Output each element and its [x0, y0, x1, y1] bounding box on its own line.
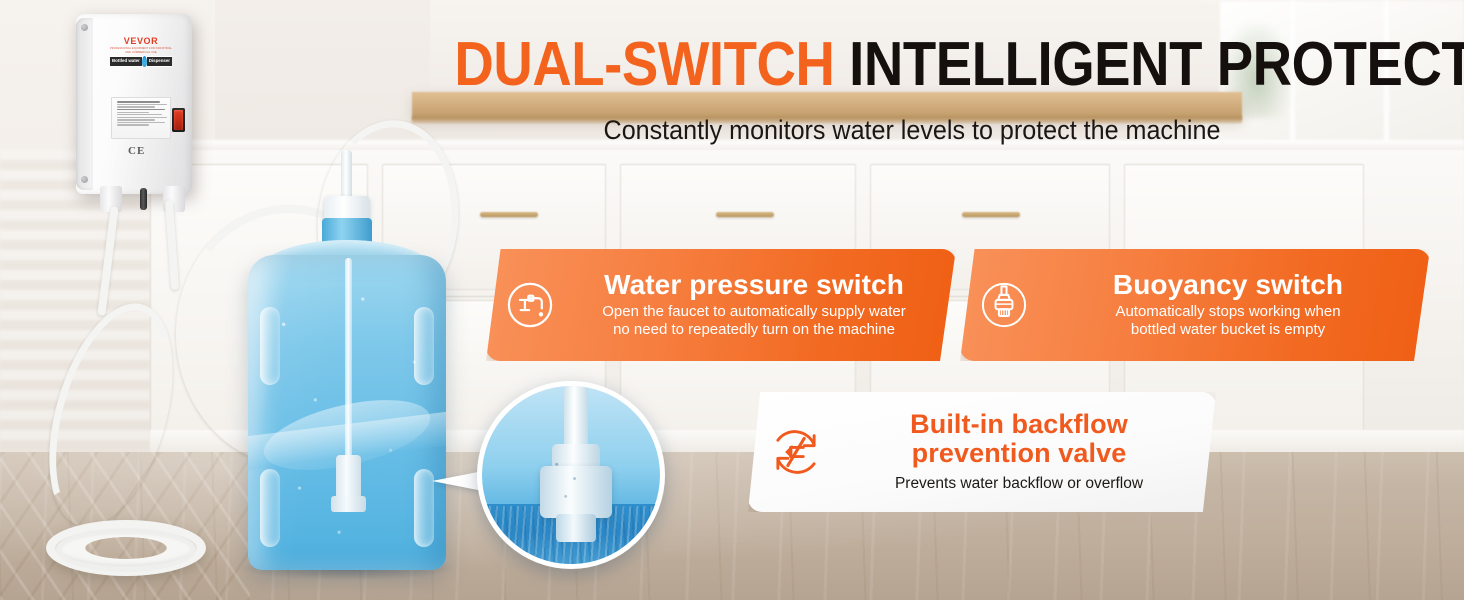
tube-coil-inner [56, 528, 196, 572]
badge-buoyancy-switch[interactable]: Buoyancy switch Automatically stops work… [960, 249, 1430, 361]
badge-title: Buoyancy switch [1042, 270, 1414, 300]
cabinet-handle [716, 212, 774, 217]
power-cord [140, 188, 147, 210]
badge-subtitle-line1: Open the faucet to automatically supply … [568, 303, 940, 322]
product-type-label: Bottled water Dispenser [110, 56, 172, 67]
label-dispenser: Dispenser [147, 57, 172, 65]
floor-sheen [0, 452, 1464, 600]
magnifier-droplets [482, 386, 660, 564]
no-backflow-icon [766, 422, 826, 482]
brand-tagline: PROFESSIONAL EQUIPMENT FOR INDUSTRIAL AN… [108, 47, 174, 55]
cabinet-handle [962, 212, 1020, 217]
banner-stage: VEVOR PROFESSIONAL EQUIPMENT FOR INDUSTR… [0, 0, 1464, 600]
magnifier-inset [477, 381, 665, 569]
intake-valve [336, 455, 361, 501]
label-bottled-water: Bottled water [110, 57, 142, 65]
badge-subtitle-line2: bottled water bucket is empty [1042, 321, 1414, 340]
float-switch-icon [976, 277, 1032, 333]
headline-orange: DUAL-SWITCH [454, 30, 834, 99]
pump-screw [81, 24, 88, 31]
bottle-grip [414, 307, 434, 385]
badge-text-group: Water pressure switch Open the faucet to… [568, 270, 940, 340]
bottle-stem [341, 150, 352, 202]
bottle-grip [260, 469, 280, 547]
bottle-grip [414, 469, 434, 547]
faucet-icon [502, 277, 558, 333]
headline-black: INTELLIGENT PROTECTION [849, 30, 1464, 99]
spec-sticker [111, 97, 171, 139]
page-title: DUAL-SWITCH INTELLIGENT PROTECTION [454, 34, 1369, 96]
badge-subtitle-line2: no need to repeatedly turn on the machin… [568, 321, 940, 340]
subheadline: Constantly monitors water levels to prot… [428, 115, 1395, 146]
pump-screw [81, 176, 88, 183]
badge-backflow-prevention[interactable]: Built-in backflow prevention valve Preve… [748, 392, 1216, 512]
badge-title-line1: Built-in backflow [840, 410, 1198, 439]
intake-foot [331, 496, 366, 512]
badge-subtitle: Prevents water backflow or overflow [840, 474, 1198, 493]
brand-logo: VEVOR [113, 37, 169, 46]
badge-text-group: Built-in backflow prevention valve Preve… [840, 410, 1198, 494]
badge-title-line2: prevention valve [840, 439, 1198, 468]
intake-tube [345, 258, 352, 463]
badge-subtitle-line1: Automatically stops working when [1042, 303, 1414, 322]
ce-mark: CE [128, 145, 145, 157]
badge-water-pressure-switch[interactable]: Water pressure switch Open the faucet to… [486, 249, 956, 361]
cabinet-handle [480, 212, 538, 217]
pump-side-bracket [76, 18, 93, 190]
bottle-grip [260, 307, 280, 385]
badge-text-group: Buoyancy switch Automatically stops work… [1042, 270, 1414, 340]
badge-title: Water pressure switch [568, 270, 940, 300]
power-switch[interactable] [172, 108, 185, 132]
